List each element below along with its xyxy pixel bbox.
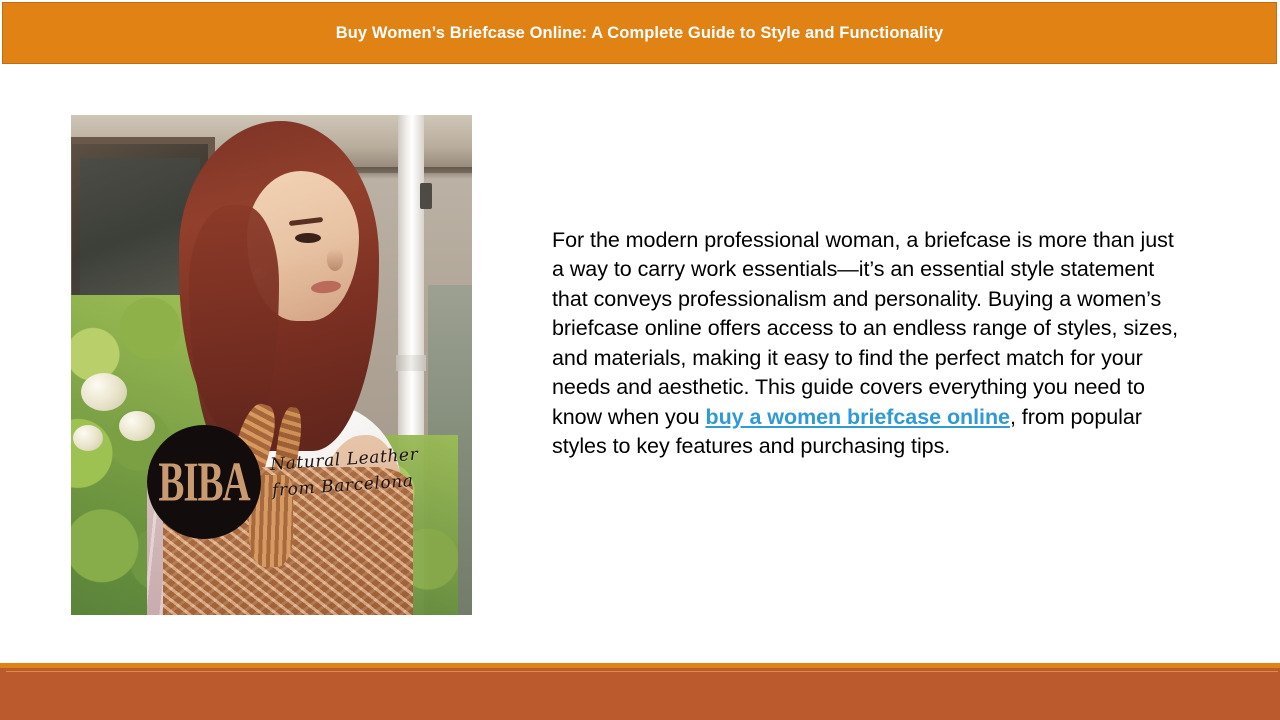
page-title: Buy Women’s Briefcase Online: A Complete…	[336, 24, 944, 43]
hero-image: BIBA Natural Leather from Barcelona	[71, 115, 472, 615]
body-paragraph: For the modern professional woman, a bri…	[552, 226, 1180, 462]
header-banner: Buy Women’s Briefcase Online: A Complete…	[2, 2, 1277, 64]
buy-briefcase-online-link[interactable]: buy a women briefcase online	[705, 405, 1009, 429]
brand-logo-badge: BIBA	[147, 425, 261, 539]
photo-pole-clip	[420, 183, 432, 209]
photo-hydrangea-3	[73, 425, 103, 451]
paragraph-text-before-link: For the modern professional woman, a bri…	[552, 228, 1178, 429]
photo-pole-band	[396, 355, 426, 371]
photo-hydrangea-1	[81, 373, 127, 411]
photo-hydrangea-2	[119, 411, 155, 441]
footer-bar-inner	[6, 671, 1278, 720]
brand-logo-text: BIBA	[158, 449, 249, 514]
photo-eye	[295, 233, 321, 243]
photo-nose	[327, 249, 343, 271]
slide-canvas: Buy Women’s Briefcase Online: A Complete…	[0, 0, 1280, 720]
